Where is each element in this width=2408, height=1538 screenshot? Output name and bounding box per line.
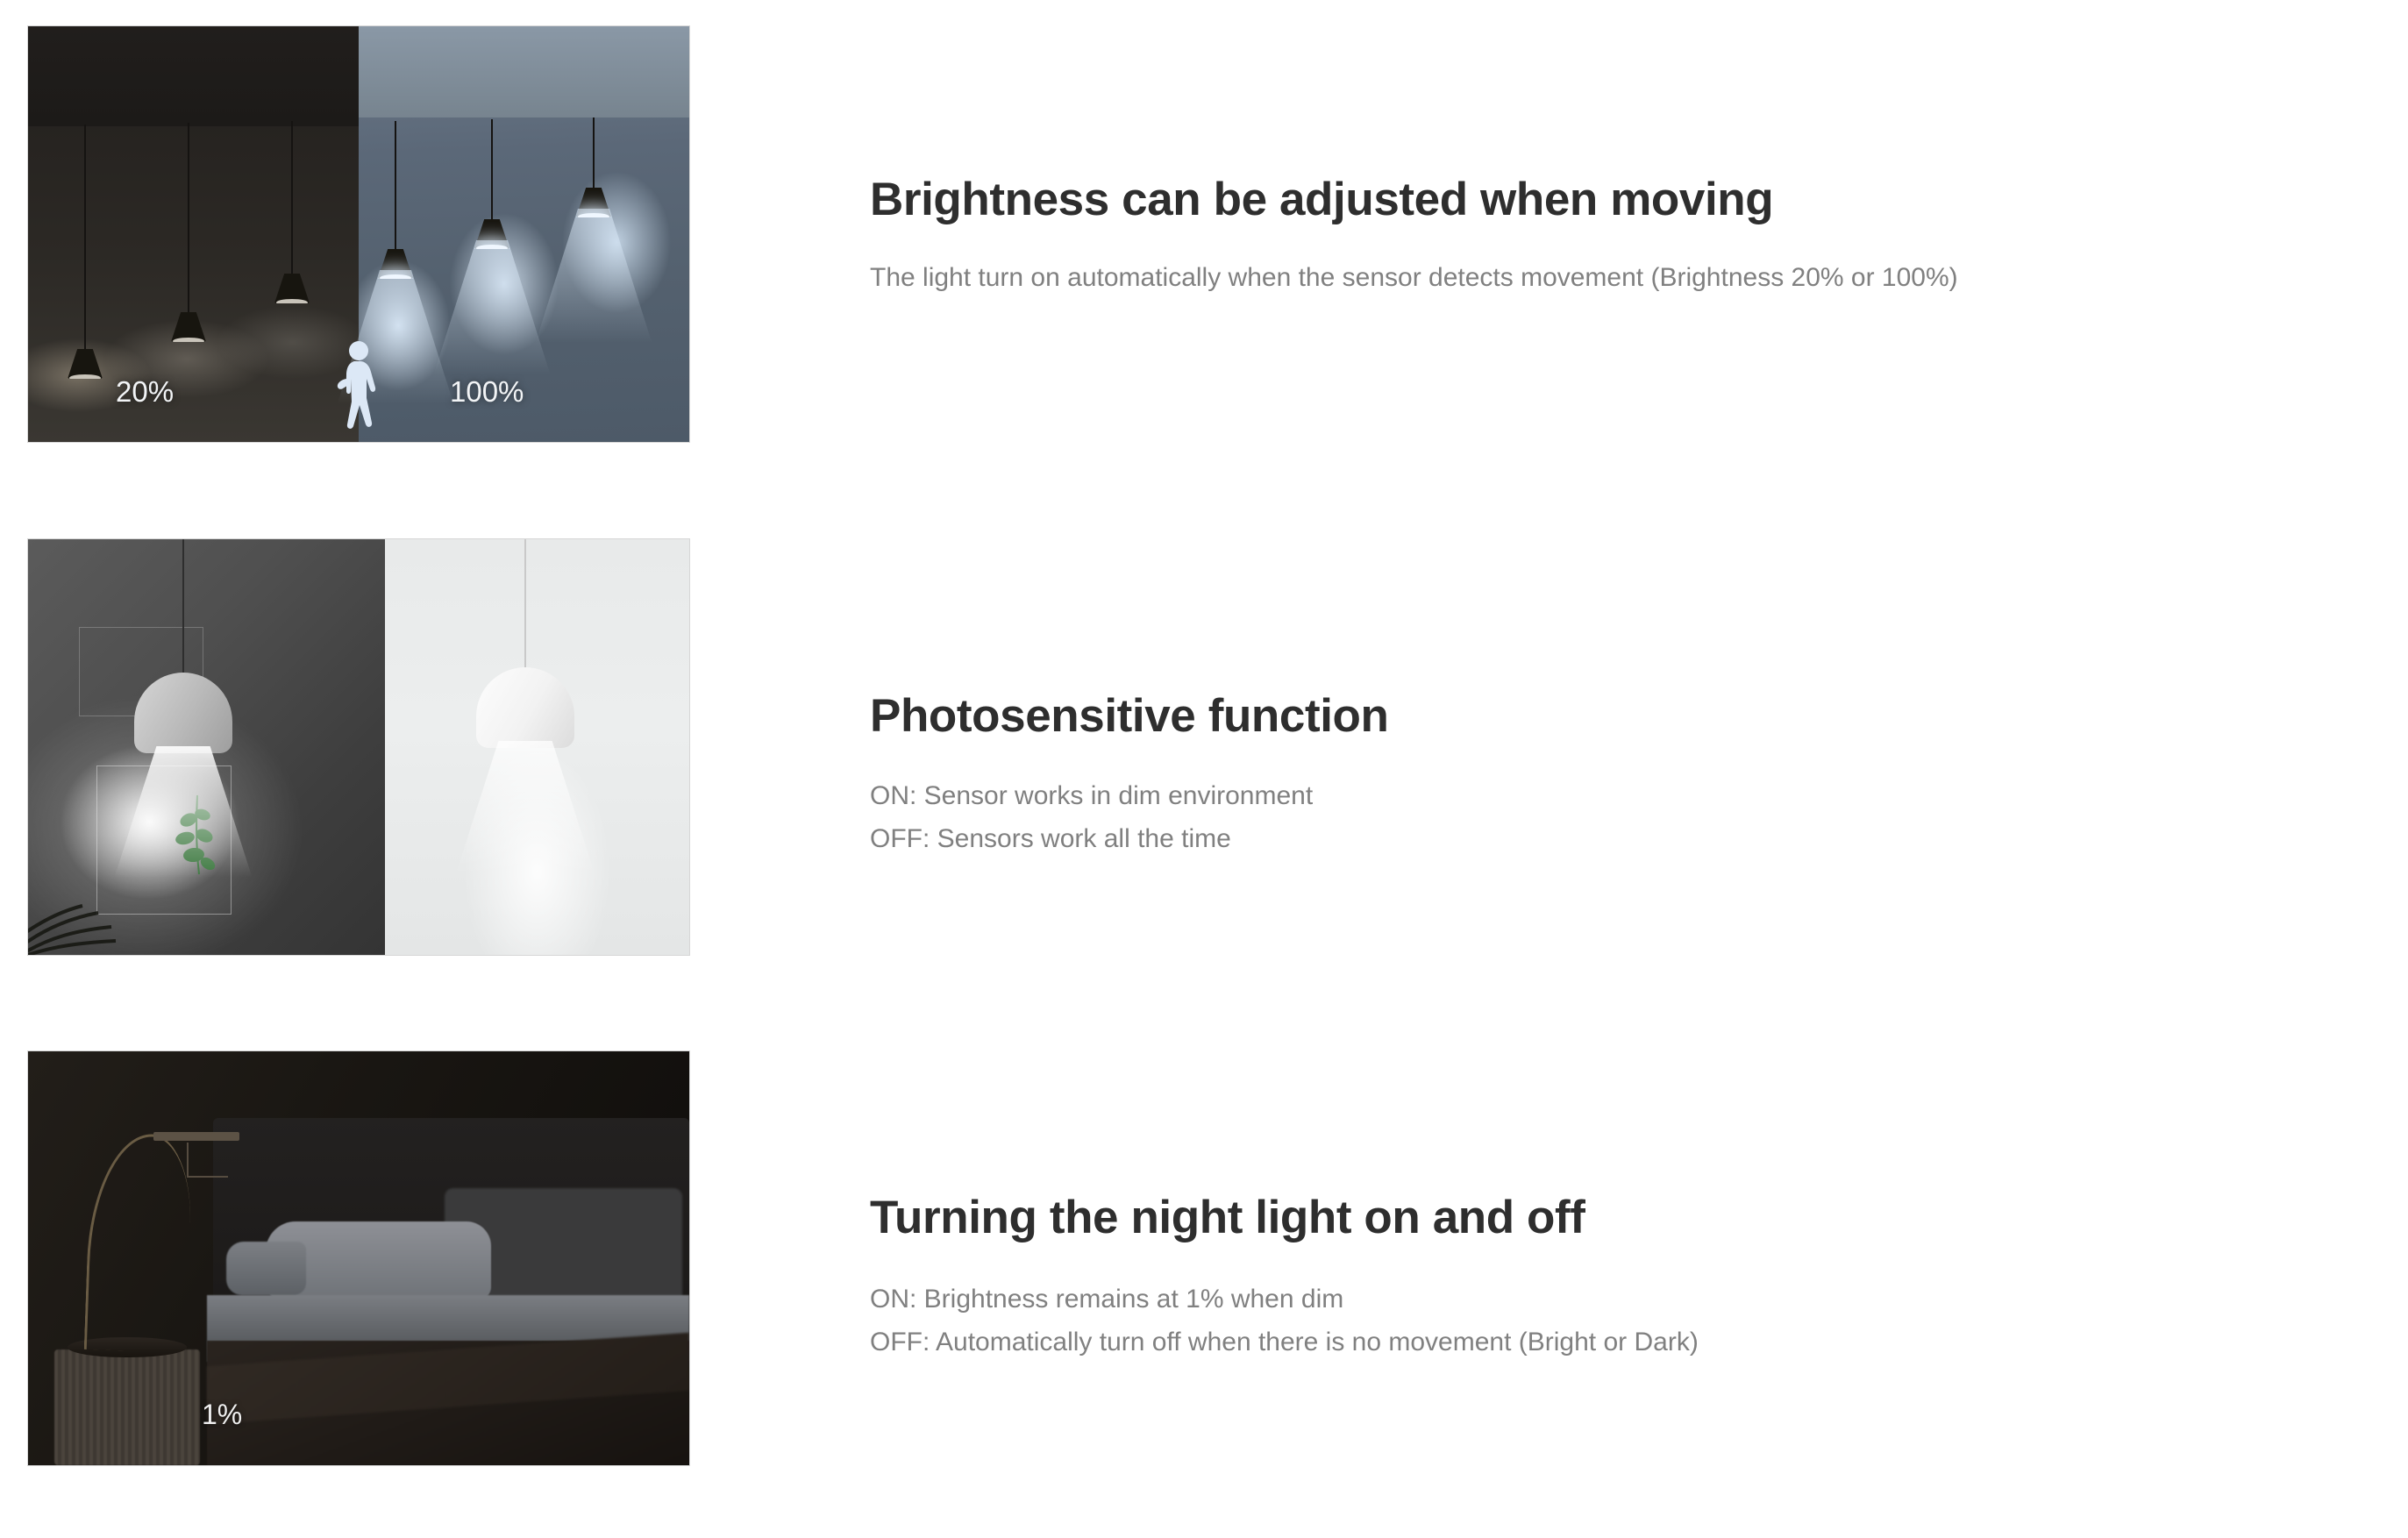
pendant-cord <box>182 539 184 676</box>
feature-image-dark-bedroom-night-light: 1% <box>28 1051 689 1465</box>
pendant-cord <box>524 539 526 671</box>
bright-ceiling <box>359 26 689 117</box>
feature-description: ON: Brightness remains at 1% when dim OF… <box>870 1278 2361 1364</box>
lamp-head-bracket <box>187 1143 228 1178</box>
feature-section-night-light-toggle: 1% Turning the night light on and off ON… <box>0 1051 2408 1465</box>
dark-ceiling <box>28 26 359 126</box>
pendant-lamp-lit <box>182 539 184 676</box>
feature-description-line: ON: Sensor works in dim environment <box>870 775 2361 818</box>
pendant-lamp-unlit <box>524 539 526 671</box>
pendant-lamp-dim-2 <box>188 123 189 316</box>
feature-description-line: OFF: Sensors work all the time <box>870 818 2361 861</box>
feature-image-photosensitive-lamp-split-scene <box>28 539 689 955</box>
feature-description-line: ON: Brightness remains at 1% when dim <box>870 1278 2361 1321</box>
pendant-cord <box>291 121 293 277</box>
feature-title: Brightness can be adjusted when moving <box>870 174 2361 225</box>
feature-text-block: Photosensitive function ON: Sensor works… <box>870 690 2361 861</box>
feature-description-line: The light turn on automatically when the… <box>870 257 2361 300</box>
feature-title: Photosensitive function <box>870 690 2361 742</box>
feature-list-page: 20% 100% Brightness can be adjusted when… <box>0 0 2408 1538</box>
pendant-lights-illustration: 20% 100% <box>28 26 689 442</box>
dark-bedroom-illustration: 1% <box>28 1051 689 1465</box>
nightstand <box>54 1349 200 1465</box>
pendant-lamp-dim-3 <box>291 121 293 277</box>
feature-description: ON: Sensor works in dim environment OFF:… <box>870 775 2361 860</box>
pendant-lamp-lit-2 <box>491 119 493 223</box>
pendant-cord <box>188 123 189 316</box>
feature-title: Turning the night light on and off <box>870 1192 2361 1243</box>
feature-description-line: OFF: Automatically turn off when there i… <box>870 1321 2361 1364</box>
night-light-brightness-label: 1% <box>202 1399 242 1431</box>
feature-text-block: Brightness can be adjusted when moving T… <box>870 174 2361 300</box>
feature-section-photosensitive-function: Photosensitive function ON: Sensor works… <box>0 539 2408 955</box>
pendant-cord <box>84 125 86 352</box>
brightness-label-right: 100% <box>450 375 524 409</box>
pendant-lamp-dim-1 <box>84 125 86 352</box>
pendant-cord <box>395 121 396 253</box>
pendant-lamp-lit-3 <box>593 117 595 191</box>
lamp-head <box>153 1132 239 1141</box>
pendant-cord <box>491 119 493 223</box>
walking-person-icon <box>337 340 382 435</box>
feature-description: The light turn on automatically when the… <box>870 257 2361 300</box>
feature-section-brightness-adjust: 20% 100% Brightness can be adjusted when… <box>0 26 2408 442</box>
photosensitive-lamp-illustration <box>28 539 689 955</box>
pendant-cord <box>593 117 595 191</box>
foreground-leaves <box>28 876 142 955</box>
brightness-label-left: 20% <box>116 375 174 409</box>
side-pillow <box>226 1242 305 1295</box>
feature-text-block: Turning the night light on and off ON: B… <box>870 1192 2361 1364</box>
feature-image-pendant-lights-split-scene: 20% 100% <box>28 26 689 442</box>
pendant-lamp-lit-1 <box>395 121 396 253</box>
